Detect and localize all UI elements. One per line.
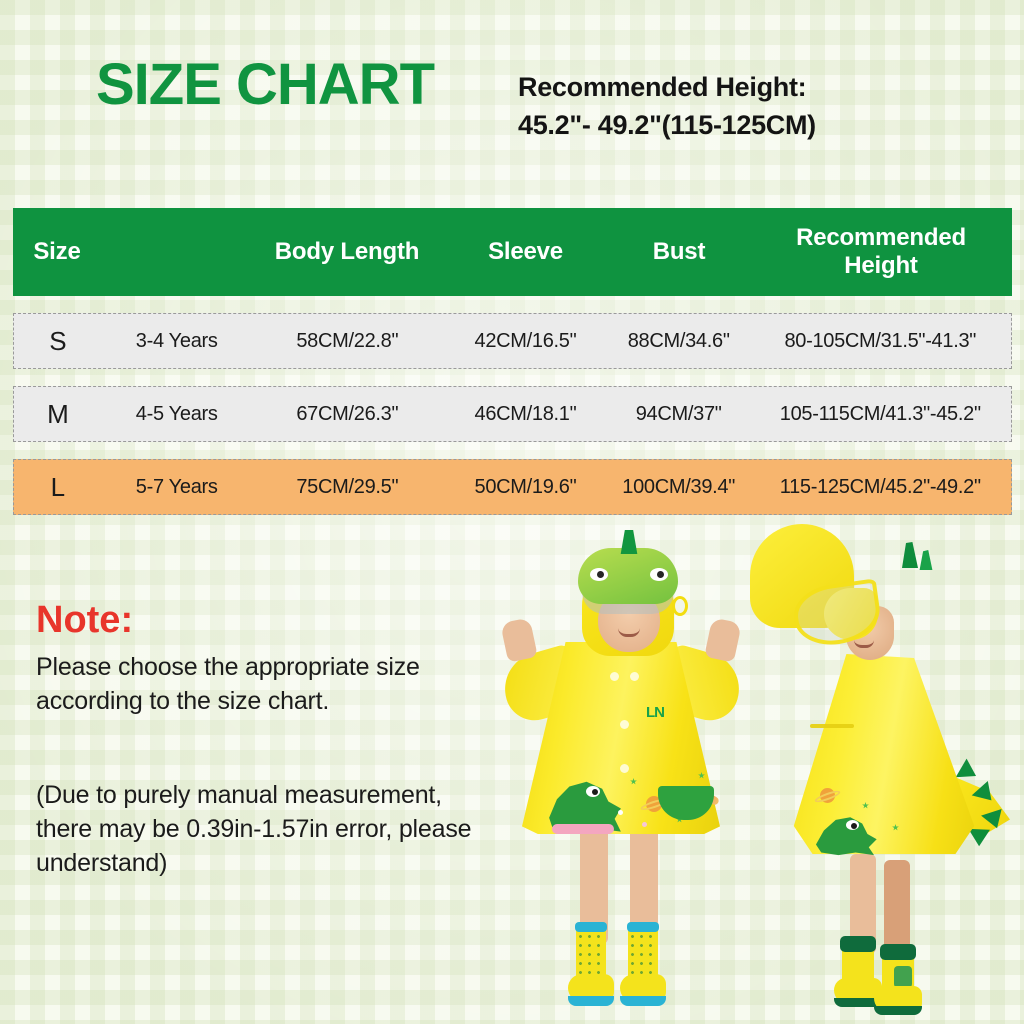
recommended-height-value: 45.2"- 49.2"(115-125CM) xyxy=(518,106,938,144)
cell-size: S xyxy=(14,326,102,357)
cell-size: L xyxy=(14,472,102,503)
hand-right xyxy=(704,617,742,662)
note-title: Note: xyxy=(36,598,496,642)
cell-age: 5-7 Years xyxy=(102,476,252,499)
boot-cuff xyxy=(575,922,607,932)
dinosaur-head-spike xyxy=(918,550,934,570)
cell-bust: 88CM/34.6" xyxy=(608,330,750,353)
boot-dinosaur-graphic xyxy=(894,966,912,988)
leg-right xyxy=(884,860,910,956)
column-header-sleeve: Sleeve xyxy=(443,238,608,266)
cell-body-length: 58CM/22.8" xyxy=(252,330,444,353)
dinosaur-print-surfboard xyxy=(552,824,614,834)
cell-age: 4-5 Years xyxy=(102,403,252,426)
cell-size: M xyxy=(14,399,102,430)
cell-recommended-height: 115-125CM/45.2"-49.2" xyxy=(750,476,1011,499)
dinosaur-print-pupil xyxy=(592,789,598,795)
cell-age: 3-4 Years xyxy=(102,330,252,353)
boot-cuff xyxy=(627,922,659,932)
pocket-seam xyxy=(810,724,854,728)
snap-button xyxy=(630,672,639,681)
boot-sole xyxy=(568,996,614,1006)
size-chart-page: SIZE CHART Recommended Height: 45.2"- 49… xyxy=(0,0,1024,1024)
cell-body-length: 67CM/26.3" xyxy=(252,403,444,426)
page-header: SIZE CHART Recommended Height: 45.2"- 49… xyxy=(0,54,1024,146)
product-photo-group: LN xyxy=(498,524,1014,1024)
cell-sleeve: 42CM/16.5" xyxy=(443,330,608,353)
dinosaur-pupil-left xyxy=(597,571,604,578)
rain-boot-left xyxy=(568,922,614,1008)
cell-sleeve: 50CM/19.6" xyxy=(443,476,608,499)
note-section: Note: Please choose the appropriate size… xyxy=(36,598,496,880)
size-table: Size Body Length Sleeve Bust Recommended… xyxy=(13,208,1012,515)
cell-bust: 100CM/39.4" xyxy=(608,476,750,499)
boot-cuff xyxy=(840,936,876,952)
confetti-dot xyxy=(618,810,623,815)
cell-recommended-height: 105-115CM/41.3"-45.2" xyxy=(750,403,1011,426)
column-header-recommended-height: Recommended Height xyxy=(750,224,1012,280)
dinosaur-print-pupil xyxy=(851,823,857,829)
boot-sole xyxy=(874,1006,922,1015)
cell-body-length: 75CM/29.5" xyxy=(252,476,444,499)
column-header-recommended-height-line2: Height xyxy=(750,252,1012,280)
raincoat-body xyxy=(790,654,978,854)
brand-logo: LN xyxy=(646,704,692,724)
tail-spike xyxy=(954,756,979,781)
hood-loop xyxy=(672,596,688,616)
snap-button xyxy=(620,720,629,729)
dinosaur-head-spike xyxy=(900,542,920,568)
dinosaur-pupil-right xyxy=(657,571,664,578)
table-row-highlighted: L 5-7 Years 75CM/29.5" 50CM/19.6" 100CM/… xyxy=(13,459,1012,515)
rain-boot-right xyxy=(620,922,666,1008)
recommended-height-label: Recommended Height: xyxy=(518,68,938,106)
child-front-illustration: LN xyxy=(498,524,766,1024)
table-row: M 4-5 Years 67CM/26.3" 46CM/18.1" 94CM/3… xyxy=(13,386,1012,442)
cell-recommended-height: 80-105CM/31.5"-41.3" xyxy=(750,330,1011,353)
note-paragraph-1: Please choose the appropriate size accor… xyxy=(36,650,496,718)
column-header-size: Size xyxy=(13,238,101,266)
column-header-recommended-height-line1: Recommended xyxy=(750,224,1012,252)
note-paragraph-2: (Due to purely manual measurement, there… xyxy=(36,778,496,880)
page-title: SIZE CHART xyxy=(96,54,434,116)
column-header-bust: Bust xyxy=(608,238,750,266)
table-row: S 3-4 Years 58CM/22.8" 42CM/16.5" 88CM/3… xyxy=(13,313,1012,369)
child-side-illustration xyxy=(750,524,1014,1024)
cell-bust: 94CM/37" xyxy=(608,403,750,426)
confetti-dot xyxy=(642,822,647,827)
boot-sole xyxy=(620,996,666,1006)
column-header-body-length: Body Length xyxy=(251,238,443,266)
snap-button xyxy=(610,672,619,681)
rain-boot-right xyxy=(874,944,922,1018)
table-header-row: Size Body Length Sleeve Bust Recommended… xyxy=(13,208,1012,296)
product-photo-side xyxy=(750,524,1014,1024)
product-photo-front: LN xyxy=(498,524,766,1024)
hand-left xyxy=(500,617,538,662)
snap-button xyxy=(620,764,629,773)
recommended-height-callout: Recommended Height: 45.2"- 49.2"(115-125… xyxy=(518,68,938,144)
cell-sleeve: 46CM/18.1" xyxy=(443,403,608,426)
boot-cuff xyxy=(880,944,916,960)
